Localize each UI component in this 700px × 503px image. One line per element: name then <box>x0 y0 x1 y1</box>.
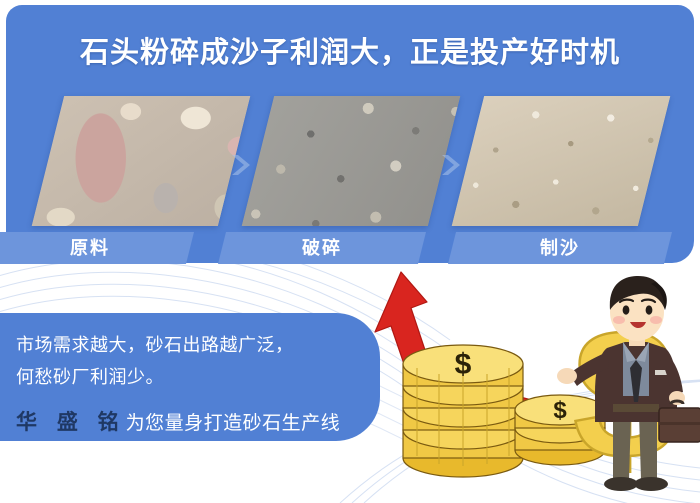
promotional-banner: 石头粉碎成沙子利润大，正是投产好时机 原料 破碎 制沙 市场需求越大，砂石出路越… <box>0 0 700 503</box>
brand-line: 华 盛 铭为您量身打造砂石生产线 <box>16 406 340 436</box>
process-label-raw-material: 原料 <box>0 232 194 264</box>
process-panels <box>0 96 700 226</box>
message-panel: 市场需求越大，砂石出路越广泛， 何愁砂厂利润少。 华 盛 铭为您量身打造砂石生产… <box>0 313 380 441</box>
brand-tagline: 为您量身打造砂石生产线 <box>126 413 341 434</box>
profit-illustration: $ $ $ <box>355 262 700 503</box>
process-image-raw-material <box>32 96 250 226</box>
process-label-text: 制沙 <box>452 232 668 264</box>
process-image-sand-making <box>452 96 670 226</box>
manufactured-sand-photo <box>452 96 670 226</box>
process-label-sand-making: 制沙 <box>448 232 672 264</box>
gold-coin-stack-icon: $ <box>403 345 523 477</box>
page-title: 石头粉碎成沙子利润大，正是投产好时机 <box>6 29 694 71</box>
chevron-right-icon <box>438 152 464 178</box>
river-pebbles-photo <box>32 96 250 226</box>
message-line-1: 市场需求越大，砂石出路越广泛， <box>16 331 294 357</box>
coin-dollar-symbol: $ <box>455 348 472 381</box>
brand-name: 华 盛 铭 <box>16 411 126 434</box>
process-image-crushing <box>242 96 460 226</box>
process-label-crushing: 破碎 <box>218 232 426 264</box>
coin-dollar-symbol: $ <box>553 397 567 424</box>
crushed-gravel-photo <box>242 96 460 226</box>
process-label-text: 原料 <box>0 232 190 264</box>
chevron-right-icon <box>228 152 254 178</box>
process-label-text: 破碎 <box>222 232 422 264</box>
message-line-2: 何愁砂厂利润少。 <box>16 363 164 389</box>
